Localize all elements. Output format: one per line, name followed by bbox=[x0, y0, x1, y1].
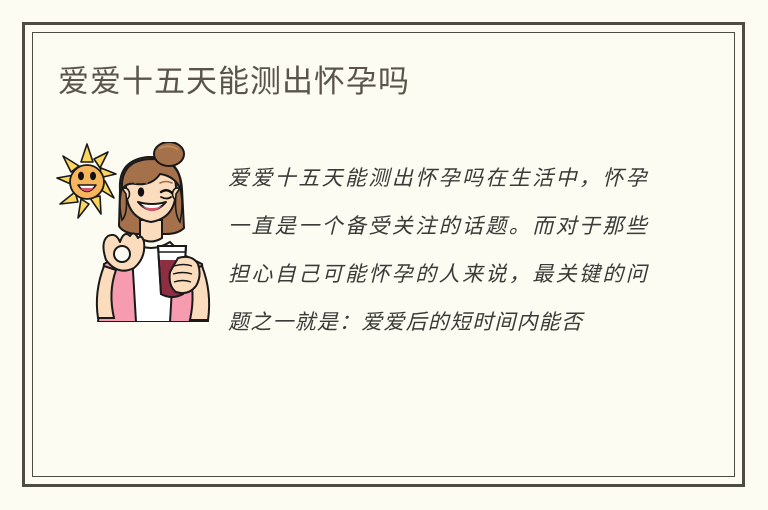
sun-eye-right bbox=[90, 172, 96, 180]
illustration-svg bbox=[56, 142, 214, 322]
smiling-sun-icon bbox=[57, 144, 116, 218]
ok-hand-gesture bbox=[103, 233, 144, 270]
illustration bbox=[56, 142, 214, 322]
sun-eye-left bbox=[78, 172, 84, 180]
card-content: 爱爱十五天能测出怀孕吗 bbox=[32, 32, 735, 477]
woman-with-juice-icon bbox=[97, 142, 209, 322]
page-title: 爱爱十五天能测出怀孕吗 bbox=[58, 62, 410, 102]
article-card-page: 爱爱十五天能测出怀孕吗 bbox=[0, 0, 768, 510]
article-body: 爱爱十五天能测出怀孕吗在生活中，怀孕一直是一个备受关注的话题。而对于那些担心自己… bbox=[228, 154, 648, 346]
eye-open bbox=[138, 187, 144, 196]
